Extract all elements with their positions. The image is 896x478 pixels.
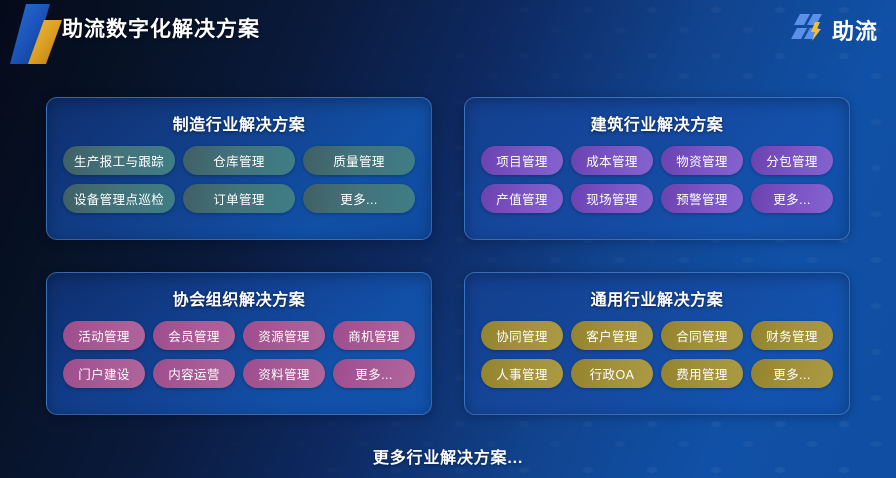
solution-cards-grid: 制造行业解决方案 生产报工与跟踪 仓库管理 质量管理 设备管理点巡检 订单管理 …	[46, 97, 850, 415]
feature-pill[interactable]: 资源管理	[243, 321, 325, 350]
card-pill-rows: 项目管理 成本管理 物资管理 分包管理 产值管理 现场管理 预警管理 更多...	[465, 146, 849, 213]
pill-row: 活动管理 会员管理 资源管理 商机管理	[63, 321, 415, 350]
pill-row: 门户建设 内容运营 资料管理 更多...	[63, 359, 415, 388]
pill-row: 产值管理 现场管理 预警管理 更多...	[481, 184, 833, 213]
solution-card-association[interactable]: 协会组织解决方案 活动管理 会员管理 资源管理 商机管理 门户建设 内容运营 资…	[46, 272, 432, 415]
card-title: 通用行业解决方案	[465, 286, 849, 310]
feature-pill[interactable]: 质量管理	[303, 146, 415, 175]
header-bar: 助流数字化解决方案 助流	[0, 0, 896, 60]
corner-logo[interactable]: 助流	[791, 12, 878, 47]
feature-pill[interactable]: 行政OA	[571, 359, 653, 388]
feature-pill[interactable]: 订单管理	[183, 184, 295, 213]
feature-pill[interactable]: 项目管理	[481, 146, 563, 175]
solution-card-construction[interactable]: 建筑行业解决方案 项目管理 成本管理 物资管理 分包管理 产值管理 现场管理 预…	[464, 97, 850, 240]
feature-pill[interactable]: 活动管理	[63, 321, 145, 350]
card-pill-rows: 生产报工与跟踪 仓库管理 质量管理 设备管理点巡检 订单管理 更多...	[47, 146, 431, 213]
feature-pill[interactable]: 财务管理	[751, 321, 833, 350]
page-title: 助流数字化解决方案	[62, 13, 260, 43]
solution-card-manufacturing[interactable]: 制造行业解决方案 生产报工与跟踪 仓库管理 质量管理 设备管理点巡检 订单管理 …	[46, 97, 432, 240]
feature-pill[interactable]: 协同管理	[481, 321, 563, 350]
feature-pill[interactable]: 预警管理	[661, 184, 743, 213]
card-title: 制造行业解决方案	[47, 111, 431, 135]
feature-pill[interactable]: 商机管理	[333, 321, 415, 350]
feature-pill[interactable]: 现场管理	[571, 184, 653, 213]
solution-card-general[interactable]: 通用行业解决方案 协同管理 客户管理 合同管理 财务管理 人事管理 行政OA 费…	[464, 272, 850, 415]
pill-row: 项目管理 成本管理 物资管理 分包管理	[481, 146, 833, 175]
feature-pill[interactable]: 合同管理	[661, 321, 743, 350]
feature-pill[interactable]: 资料管理	[243, 359, 325, 388]
feature-pill[interactable]: 客户管理	[571, 321, 653, 350]
feature-pill-more[interactable]: 更多...	[751, 184, 833, 213]
feature-pill[interactable]: 费用管理	[661, 359, 743, 388]
footer-more-solutions[interactable]: 更多行业解决方案...	[0, 444, 896, 468]
page-root: 助流数字化解决方案 助流 制造行业解决方案	[0, 0, 896, 478]
feature-pill[interactable]: 物资管理	[661, 146, 743, 175]
corner-logo-text: 助流	[832, 14, 878, 46]
feature-pill[interactable]: 成本管理	[571, 146, 653, 175]
pill-row: 人事管理 行政OA 费用管理 更多...	[481, 359, 833, 388]
card-title: 协会组织解决方案	[47, 286, 431, 310]
feature-pill[interactable]: 仓库管理	[183, 146, 295, 175]
feature-pill-more[interactable]: 更多...	[303, 184, 415, 213]
pill-row: 设备管理点巡检 订单管理 更多...	[63, 184, 415, 213]
feature-pill[interactable]: 产值管理	[481, 184, 563, 213]
feature-pill[interactable]: 门户建设	[63, 359, 145, 388]
slanted-bars-logo-icon	[10, 2, 70, 64]
card-title: 建筑行业解决方案	[465, 111, 849, 135]
pill-row: 生产报工与跟踪 仓库管理 质量管理	[63, 146, 415, 175]
card-pill-rows: 活动管理 会员管理 资源管理 商机管理 门户建设 内容运营 资料管理 更多...	[47, 321, 431, 388]
feature-pill-more[interactable]: 更多...	[333, 359, 415, 388]
feature-pill[interactable]: 设备管理点巡检	[63, 184, 175, 213]
feature-pill[interactable]: 内容运营	[153, 359, 235, 388]
feature-pill[interactable]: 生产报工与跟踪	[63, 146, 175, 175]
card-pill-rows: 协同管理 客户管理 合同管理 财务管理 人事管理 行政OA 费用管理 更多...	[465, 321, 849, 388]
feature-pill[interactable]: 人事管理	[481, 359, 563, 388]
feature-pill[interactable]: 分包管理	[751, 146, 833, 175]
feature-pill-more[interactable]: 更多...	[751, 359, 833, 388]
pill-row: 协同管理 客户管理 合同管理 财务管理	[481, 321, 833, 350]
feature-pill[interactable]: 会员管理	[153, 321, 235, 350]
zhuliu-bolt-icon	[791, 12, 825, 47]
